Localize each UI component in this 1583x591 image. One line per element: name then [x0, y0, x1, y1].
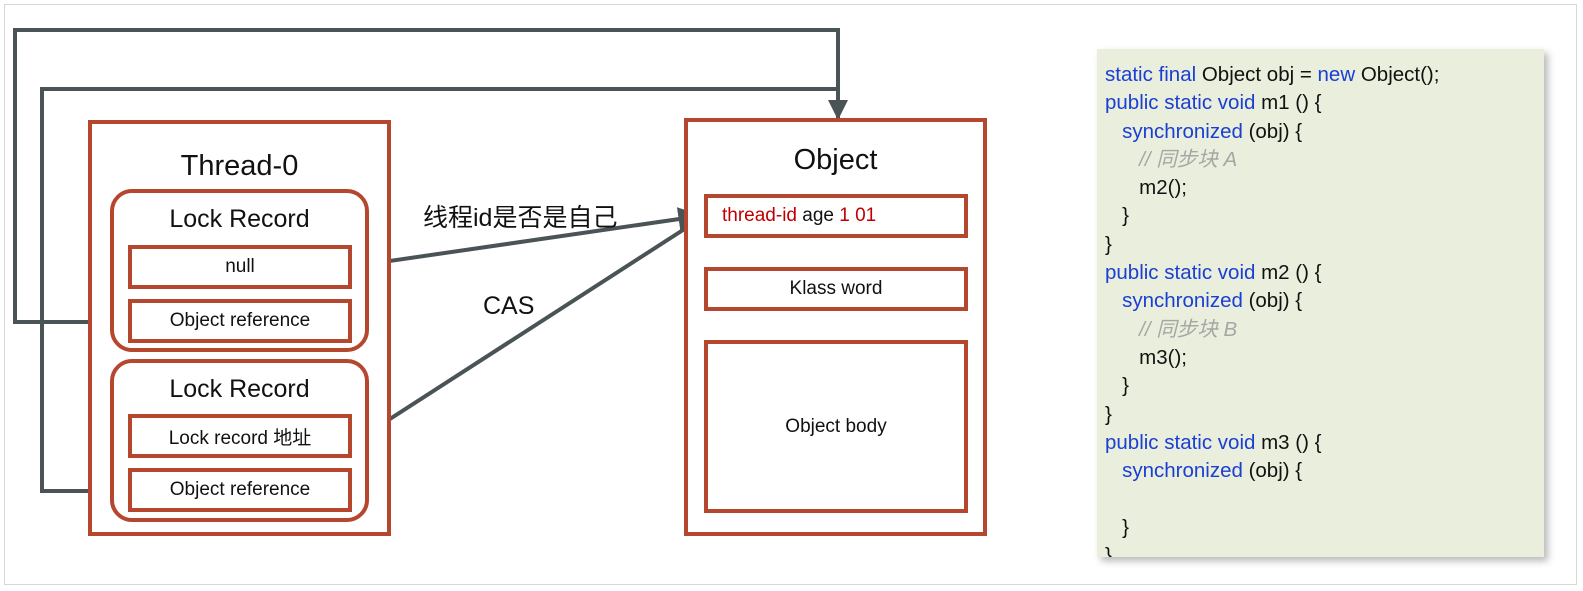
code-line-13: }	[1105, 401, 1544, 429]
edge-label-cas: CAS	[483, 292, 534, 321]
code-line-6: }	[1105, 202, 1544, 230]
code-line-2: public static void m1 () {	[1105, 89, 1544, 117]
edge-label-thread-id-check: 线程id是否是自己	[423, 198, 617, 234]
code-line-12: }	[1105, 372, 1544, 400]
code-line-3: synchronized (obj) {	[1105, 118, 1544, 146]
lock-record-2-field-lock-record-address: Lock record 地址	[128, 414, 352, 458]
mark-word-bits: 1 01	[839, 205, 876, 227]
lock-record-1-title: Lock Record	[114, 205, 365, 234]
code-line-1: static final Object obj = new Object();	[1105, 61, 1544, 89]
thread-title: Thread-0	[92, 150, 387, 183]
diagram-page: Thread-0 Lock Record null Object referen…	[0, 0, 1583, 591]
code-line-9: synchronized (obj) {	[1105, 287, 1544, 315]
mark-word-thread-id: thread-id	[722, 205, 797, 227]
code-line-7: }	[1105, 231, 1544, 259]
mark-word-age: age	[802, 205, 834, 227]
code-line-8: public static void m2 () {	[1105, 259, 1544, 287]
object-mark-word: thread-id age 1 01	[704, 194, 968, 238]
lock-record-2-title: Lock Record	[114, 375, 365, 404]
code-line-17: }	[1105, 514, 1544, 542]
code-panel: static final Object obj = new Object();p…	[1097, 49, 1544, 557]
code-line-15: synchronized (obj) {	[1105, 457, 1544, 485]
code-line-11: m3();	[1105, 344, 1544, 372]
code-line-18: }	[1105, 542, 1544, 557]
code-line-14: public static void m3 () {	[1105, 429, 1544, 457]
code-line-10: // 同步块 B	[1105, 316, 1544, 344]
code-line-16	[1105, 485, 1544, 513]
lock-record-1-field-object-reference: Object reference	[128, 299, 352, 343]
connector-cas	[362, 219, 700, 437]
code-line-4: // 同步块 A	[1105, 146, 1544, 174]
object-title: Object	[688, 144, 983, 177]
lock-record-1-field-displaced-mark: null	[128, 245, 352, 289]
lock-record-2-field-object-reference: Object reference	[128, 468, 352, 512]
object-body: Object body	[704, 340, 968, 513]
code-line-5: m2();	[1105, 174, 1544, 202]
object-klass-word: Klass word	[704, 267, 968, 311]
